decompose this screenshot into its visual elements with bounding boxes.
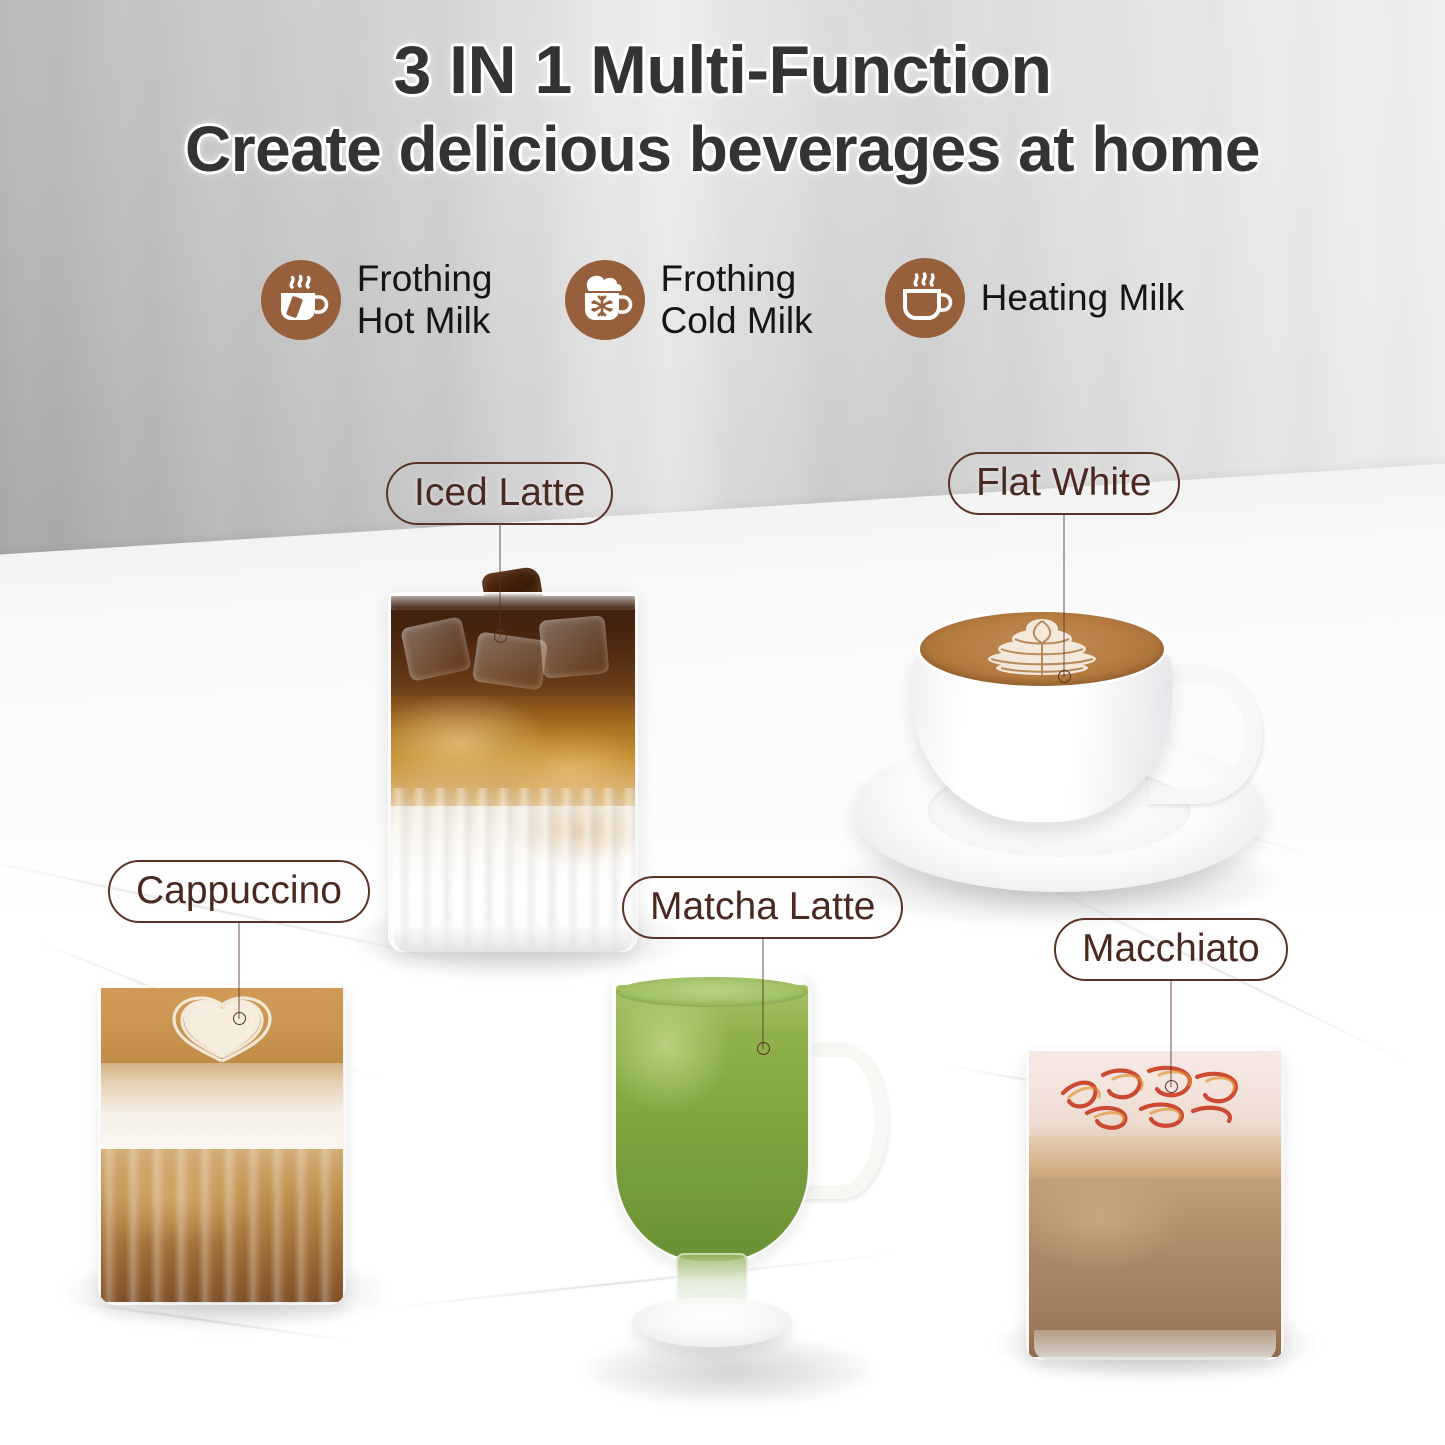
macchiato-milk-layer [1029, 1136, 1281, 1182]
rosetta-latte-art [927, 615, 1157, 683]
drink-cappuccino [98, 985, 346, 1305]
feature-label-frothing-cold-milk: Frothing Cold Milk [661, 258, 813, 342]
matcha-latte-glass-bowl [612, 975, 812, 1265]
macchiato-glass-base [1034, 1330, 1276, 1360]
callout-cappuccino[interactable]: Cappuccino [108, 860, 370, 923]
callout-label-matcha-latte[interactable]: Matcha Latte [622, 876, 903, 939]
cappuccino-heart-rosetta-art [122, 989, 322, 1065]
macchiato-foam-top [1029, 1051, 1281, 1143]
callout-label-macchiato[interactable]: Macchiato [1054, 918, 1288, 981]
feature-label-frothing-hot-milk: Frothing Hot Milk [357, 258, 493, 342]
callout-leader-flat-white [1063, 515, 1064, 677]
matcha-latte-glass-foot [632, 1297, 792, 1347]
callout-macchiato[interactable]: Macchiato [1054, 918, 1288, 981]
matcha-latte-green-liquid [616, 985, 808, 1261]
drink-iced-latte [388, 592, 638, 952]
matcha-latte-surface [616, 977, 808, 1007]
callout-leader-iced-latte [499, 525, 500, 637]
macchiato-syrup-drizzle [1029, 1051, 1281, 1143]
callout-leader-matcha-latte [762, 939, 763, 1049]
iced-latte-tumbler-glass [388, 592, 638, 952]
callout-flat-white[interactable]: Flat White [948, 452, 1180, 515]
feature-frothing-hot-milk: Frothing Hot Milk [261, 258, 493, 342]
iced-latte-glass-base [394, 924, 632, 952]
callout-label-flat-white[interactable]: Flat White [948, 452, 1180, 515]
callout-leader-cappuccino [238, 923, 239, 1019]
feature-heating-milk: Heating Milk [885, 258, 1185, 338]
product-marketing-image: 3 IN 1 Multi-Function Create delicious b… [0, 0, 1445, 1445]
drink-flat-white [848, 604, 1276, 906]
flat-white-crema-surface [920, 612, 1164, 686]
cold-milk-frothing-icon [565, 260, 645, 340]
iced-latte-glass-rim [388, 592, 638, 610]
feature-badge-row: Frothing Hot Milk [0, 258, 1445, 342]
callout-label-iced-latte[interactable]: Iced Latte [386, 462, 613, 525]
hot-milk-frothing-icon [261, 260, 341, 340]
iced-latte-coffee-layer [391, 596, 635, 704]
macchiato-glass [1026, 1048, 1284, 1360]
feature-label-heating-milk: Heating Milk [981, 277, 1185, 319]
callout-matcha-latte[interactable]: Matcha Latte [622, 876, 903, 939]
heating-milk-icon [885, 258, 965, 338]
feature-frothing-cold-milk: Frothing Cold Milk [565, 258, 813, 342]
callout-leader-macchiato [1170, 981, 1171, 1087]
drink-macchiato [1026, 1048, 1284, 1360]
cappuccino-glass-ribs [101, 1133, 343, 1303]
drink-matcha-latte [604, 975, 834, 1395]
callout-iced-latte[interactable]: Iced Latte [386, 462, 613, 525]
callout-label-cappuccino[interactable]: Cappuccino [108, 860, 370, 923]
